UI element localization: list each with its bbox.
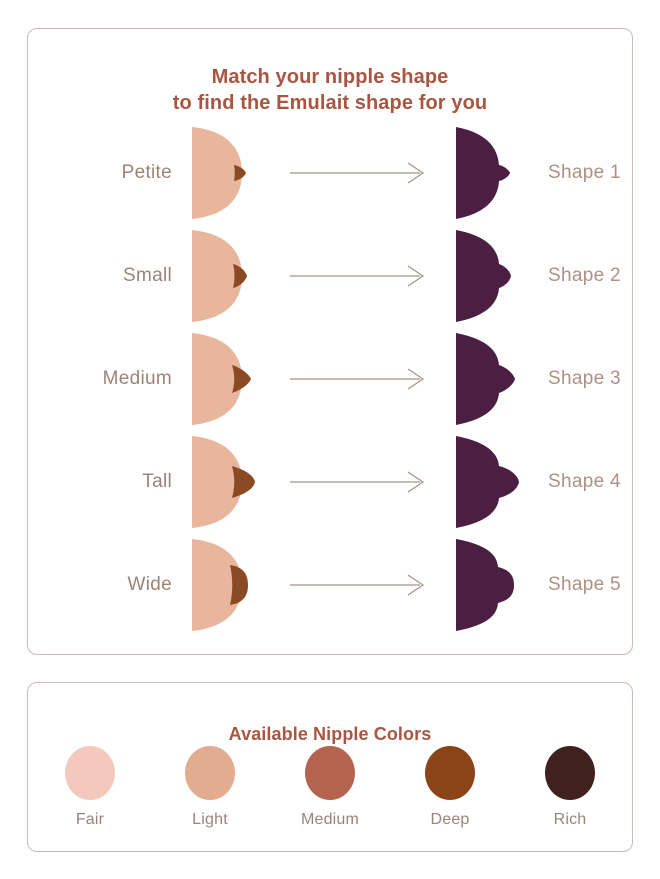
color-swatch-light[interactable]: [185, 746, 235, 800]
nipple-shape-label: Tall: [28, 471, 190, 493]
colors-panel-title: Available Nipple Colors: [28, 723, 632, 746]
teat-profile-shape-3: [454, 331, 530, 427]
shape-match-list: Petite: [28, 121, 632, 636]
teat-profile-shape-5: [454, 537, 530, 633]
teat-profile-shape-2: [454, 228, 530, 324]
bottle-teat-shape-3-icon: [454, 331, 512, 427]
color-swatch-label: Rich: [554, 811, 587, 829]
breast-petite-icon: [190, 125, 248, 221]
color-swatch-medium[interactable]: [305, 746, 355, 800]
color-swatch-label: Medium: [301, 811, 359, 829]
table-row: Small S: [28, 224, 632, 327]
nipple-shape-label: Medium: [28, 368, 190, 390]
arrow-cell: [266, 368, 454, 390]
match-shape-panel: Match your nipple shape to find the Emul…: [27, 28, 633, 655]
color-swatch-rich[interactable]: [545, 746, 595, 800]
arrow-right-icon: [290, 471, 430, 493]
list-item[interactable]: Medium: [298, 746, 362, 829]
teat-profile-shape-1: [454, 125, 530, 221]
list-item[interactable]: Deep: [418, 746, 482, 829]
list-item[interactable]: Fair: [58, 746, 122, 829]
table-row: Medium: [28, 327, 632, 430]
bottle-teat-shape-2-icon: [454, 228, 512, 324]
color-swatch-deep[interactable]: [425, 746, 475, 800]
table-row: Tall Sh: [28, 430, 632, 533]
arrow-cell: [266, 574, 454, 596]
table-row: Petite: [28, 121, 632, 224]
color-swatch-label: Light: [192, 811, 228, 829]
arrow-cell: [266, 162, 454, 184]
emulait-shape-label: Shape 2: [530, 265, 632, 287]
breast-profile-medium: [190, 331, 266, 427]
nipple-shape-guide: Match your nipple shape to find the Emul…: [0, 0, 660, 879]
bottle-teat-shape-5-icon: [454, 537, 512, 633]
bottle-teat-shape-4-icon: [454, 434, 512, 530]
breast-small-icon: [190, 228, 248, 324]
color-swatch-label: Fair: [76, 811, 104, 829]
nipple-shape-label: Small: [28, 265, 190, 287]
color-swatch-label: Deep: [430, 811, 469, 829]
nipple-shape-label: Wide: [28, 574, 190, 596]
emulait-shape-label: Shape 3: [530, 368, 632, 390]
match-title-line-1: Match your nipple shape: [28, 65, 632, 91]
breast-profile-wide: [190, 537, 266, 633]
breast-profile-small: [190, 228, 266, 324]
list-item[interactable]: Rich: [538, 746, 602, 829]
arrow-right-icon: [290, 265, 430, 287]
match-panel-title: Match your nipple shape to find the Emul…: [28, 65, 632, 116]
color-swatch-fair[interactable]: [65, 746, 115, 800]
bottle-teat-shape-1-icon: [454, 125, 512, 221]
breast-profile-tall: [190, 434, 266, 530]
arrow-right-icon: [290, 162, 430, 184]
list-item[interactable]: Light: [178, 746, 242, 829]
arrow-cell: [266, 265, 454, 287]
breast-tall-icon: [190, 434, 248, 530]
arrow-cell: [266, 471, 454, 493]
match-title-line-2: to find the Emulait shape for you: [28, 91, 632, 117]
arrow-right-icon: [290, 574, 430, 596]
emulait-shape-label: Shape 4: [530, 471, 632, 493]
emulait-shape-label: Shape 1: [530, 162, 632, 184]
breast-wide-icon: [190, 537, 248, 633]
table-row: Wide Sh: [28, 533, 632, 636]
emulait-shape-label: Shape 5: [530, 574, 632, 596]
available-colors-panel: Available Nipple Colors Fair Light Mediu…: [27, 682, 633, 852]
color-swatch-list: Fair Light Medium Deep Rich: [28, 746, 632, 829]
breast-medium-icon: [190, 331, 248, 427]
arrow-right-icon: [290, 368, 430, 390]
breast-profile-petite: [190, 125, 266, 221]
nipple-shape-label: Petite: [28, 162, 190, 184]
teat-profile-shape-4: [454, 434, 530, 530]
